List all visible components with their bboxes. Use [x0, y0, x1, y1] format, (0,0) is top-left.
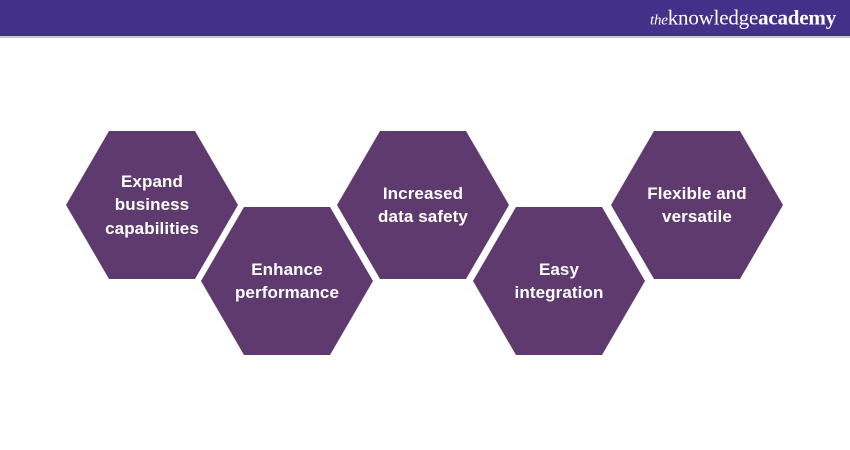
- brand-logo[interactable]: theknowledgeacademy: [650, 8, 836, 29]
- hexagon-flexible-and-versatile[interactable]: Flexible and versatile: [611, 131, 783, 279]
- hexagon-enhance-performance[interactable]: Enhance performance: [201, 207, 373, 355]
- logo-text-the: the: [650, 13, 668, 29]
- hexagon-label: Expand business capabilities: [99, 170, 205, 240]
- hexagon-label: Easy integration: [509, 258, 610, 305]
- logo-text-academy: academy: [758, 6, 836, 30]
- hexagon-diagram: Expand business capabilities Enhance per…: [0, 36, 850, 450]
- hexagon-easy-integration[interactable]: Easy integration: [473, 207, 645, 355]
- page-header: theknowledgeacademy: [0, 0, 850, 36]
- hexagon-increased-data-safety[interactable]: Increased data safety: [337, 131, 509, 279]
- hexagon-label: Enhance performance: [229, 258, 345, 305]
- hexagon-label: Flexible and versatile: [641, 182, 752, 229]
- logo-text-knowledge: knowledge: [668, 6, 758, 30]
- hexagon-expand-business-capabilities[interactable]: Expand business capabilities: [66, 131, 238, 279]
- hexagon-label: Increased data safety: [372, 182, 474, 229]
